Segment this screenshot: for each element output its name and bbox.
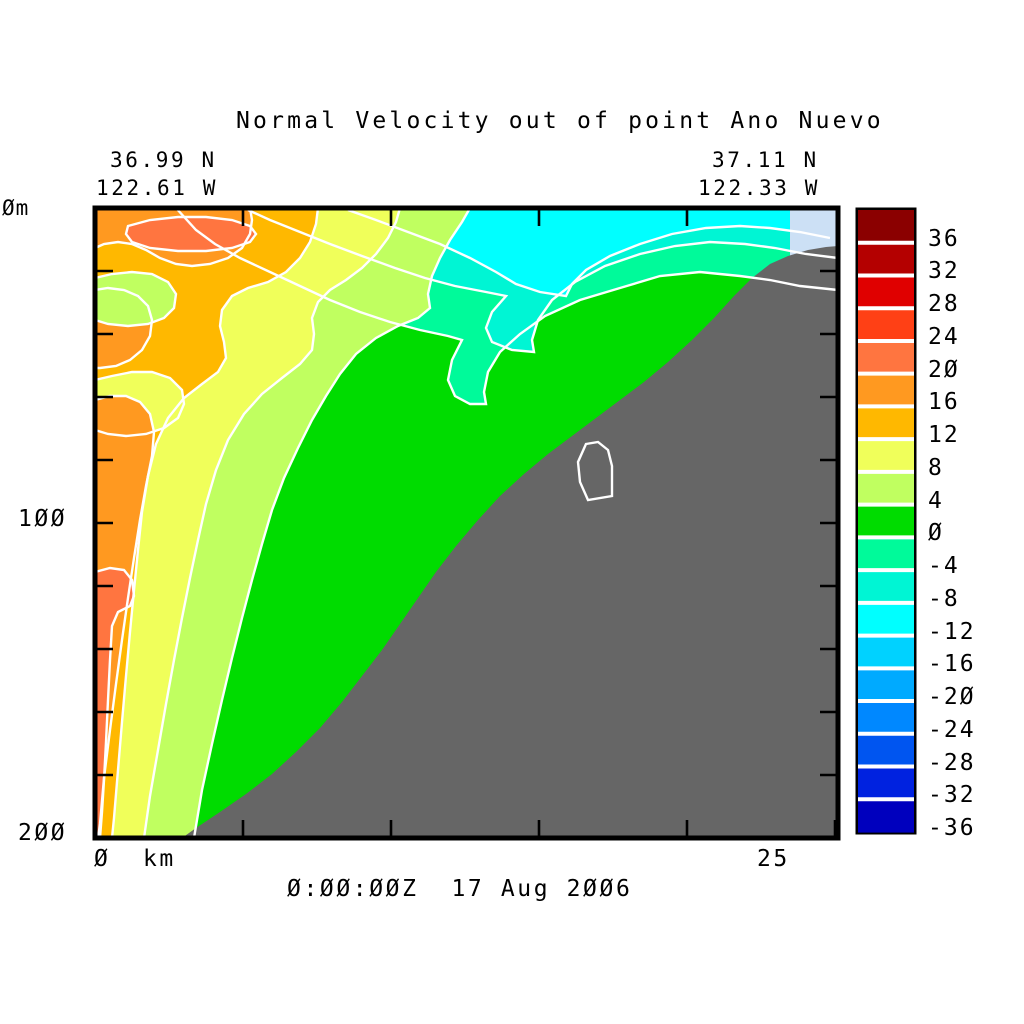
colorbar-tick-label: -12 — [928, 619, 976, 645]
colorbar-swatch[interactable] — [858, 537, 914, 570]
colorbar-tick-label: 8 — [928, 455, 944, 481]
colorbar-tick-label: -2Ø — [928, 684, 976, 710]
colorbar-tick-label: -32 — [928, 782, 976, 808]
colorbar-swatch[interactable] — [858, 734, 914, 767]
colorbar-tick-label: -16 — [928, 651, 976, 677]
colorbar-tick-label: Ø — [928, 520, 944, 546]
colorbar-swatch[interactable] — [858, 799, 914, 832]
colorbar-swatch[interactable] — [858, 472, 914, 505]
colorbar[interactable] — [858, 210, 914, 833]
colorbar-swatch[interactable] — [858, 210, 914, 243]
colorbar-swatch[interactable] — [858, 701, 914, 734]
colorbar-swatches[interactable] — [858, 210, 914, 833]
colorbar-swatch[interactable] — [858, 668, 914, 701]
colorbar-tick-label: 2Ø — [928, 357, 960, 383]
contour-field — [95, 208, 838, 838]
colorbar-tick-label: 12 — [928, 422, 960, 448]
colorbar-tick-label: -28 — [928, 750, 976, 776]
colorbar-swatch[interactable] — [858, 570, 914, 603]
colorbar-tick-label: 24 — [928, 324, 960, 350]
colorbar-tick-label: 32 — [928, 258, 960, 284]
colorbar-tick-label: 4 — [928, 488, 944, 514]
colorbar-tick-label: 16 — [928, 389, 960, 415]
colorbar-swatch[interactable] — [858, 767, 914, 800]
colorbar-tick-label: 36 — [928, 226, 960, 252]
colorbar-tick-label: -24 — [928, 717, 976, 743]
colorbar-swatch[interactable] — [858, 439, 914, 472]
colorbar-tick-label: -36 — [928, 815, 976, 841]
colorbar-swatch[interactable] — [858, 243, 914, 276]
contour-plot — [0, 0, 1024, 1024]
colorbar-swatch[interactable] — [858, 603, 914, 636]
colorbar-swatch[interactable] — [858, 374, 914, 407]
plot-page: Normal Velocity out of point Ano Nuevo 3… — [0, 0, 1024, 1024]
colorbar-swatch[interactable] — [858, 505, 914, 538]
colorbar-tick-label: 28 — [928, 291, 960, 317]
colorbar-swatch[interactable] — [858, 308, 914, 341]
colorbar-swatch[interactable] — [858, 275, 914, 308]
colorbar-swatch[interactable] — [858, 636, 914, 669]
colorbar-swatch[interactable] — [858, 341, 914, 374]
colorbar-swatch[interactable] — [858, 406, 914, 439]
colorbar-tick-label: -4 — [928, 553, 960, 579]
colorbar-tick-label: -8 — [928, 586, 960, 612]
